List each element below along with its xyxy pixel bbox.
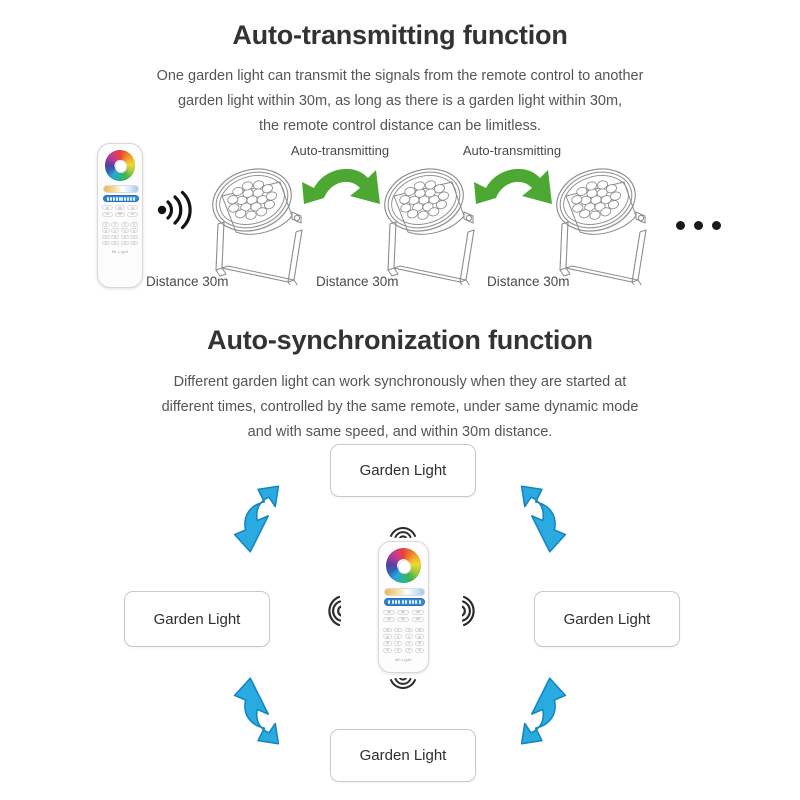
- remote-zone-button[interactable]: [130, 228, 138, 232]
- paragraph-line: One garden light can transmit the signal…: [0, 64, 800, 89]
- remote-zone-button[interactable]: [394, 648, 403, 653]
- remote-zone-button[interactable]: [383, 641, 392, 646]
- remote-zone-button[interactable]: [415, 648, 424, 653]
- double-headed-curved-arrow-icon-bottom-right: [492, 672, 570, 755]
- color-temperature-slider[interactable]: [384, 588, 424, 596]
- signal-wave-icon-down: [385, 678, 421, 709]
- remote-zone-button[interactable]: [405, 641, 414, 646]
- remote-zone-button[interactable]: [394, 641, 403, 646]
- curved-arrow-right-icon: [472, 160, 554, 213]
- remote-zone-button[interactable]: [121, 228, 129, 232]
- remote-zone-button[interactable]: [130, 222, 138, 226]
- paragraph-line: the remote control distance can be limit…: [0, 114, 800, 139]
- remote-function-button[interactable]: [127, 212, 138, 217]
- color-temperature-slider[interactable]: [103, 185, 139, 193]
- remote-zone-button[interactable]: [130, 241, 138, 245]
- remote-function-button[interactable]: [127, 205, 138, 210]
- garden-light-node-bottom[interactable]: Garden Light: [330, 729, 476, 782]
- distance-label: Distance 30m: [146, 274, 229, 289]
- remote-function-button[interactable]: [383, 610, 395, 615]
- remote-zone-button[interactable]: [102, 228, 110, 232]
- signal-wave-icon-up: [385, 512, 421, 543]
- auto-transmitting-label: Auto-transmitting: [280, 143, 400, 158]
- remote-zone-button[interactable]: [102, 241, 110, 245]
- brightness-slider[interactable]: [384, 598, 424, 606]
- product-feature-page: Auto-transmitting function One garden li…: [0, 0, 800, 800]
- remote-zone-button[interactable]: [130, 235, 138, 239]
- remote-zone-button[interactable]: [383, 634, 392, 639]
- color-wheel[interactable]: [105, 150, 136, 181]
- remote-zone-button[interactable]: [383, 628, 392, 633]
- remote-function-button[interactable]: [102, 212, 113, 217]
- remote-zone-button[interactable]: [102, 235, 110, 239]
- paragraph-line: Different garden light can work synchron…: [0, 370, 800, 395]
- remote-function-button[interactable]: [397, 610, 409, 615]
- remote-function-button[interactable]: [102, 205, 113, 210]
- remote-zone-button[interactable]: [111, 222, 119, 226]
- distance-label: Distance 30m: [487, 274, 570, 289]
- garden-light-node-left[interactable]: Garden Light: [124, 591, 270, 647]
- remote-function-button[interactable]: [412, 617, 424, 622]
- signal-wave-icon-right: [462, 592, 490, 635]
- paragraph-line: different times, controlled by the same …: [0, 395, 800, 420]
- double-headed-curved-arrow-icon-top-left: [230, 480, 308, 563]
- remote-zone-button[interactable]: [121, 222, 129, 226]
- paragraph-line: and with same speed, and within 30m dist…: [0, 420, 800, 445]
- double-headed-curved-arrow-icon-bottom-left: [230, 672, 308, 755]
- garden-light-fixture-icon: [540, 160, 660, 285]
- curved-arrow-right-icon: [300, 160, 382, 213]
- remote-zone-button[interactable]: [383, 648, 392, 653]
- remote-zone-button[interactable]: [415, 634, 424, 639]
- remote-control-center[interactable]: Mi-Light: [378, 541, 429, 673]
- remote-function-button[interactable]: [115, 212, 126, 217]
- section-paragraph-auto-synchronization: Different garden light can work synchron…: [0, 370, 800, 445]
- remote-zone-button[interactable]: [111, 241, 119, 245]
- section-paragraph-auto-transmitting: One garden light can transmit the signal…: [0, 64, 800, 139]
- remote-control[interactable]: Mi-Light: [97, 143, 143, 288]
- remote-zone-button[interactable]: [405, 634, 414, 639]
- garden-light-node-top[interactable]: Garden Light: [330, 444, 476, 497]
- remote-zone-button[interactable]: [394, 634, 403, 639]
- color-wheel[interactable]: [386, 548, 421, 583]
- remote-function-button[interactable]: [397, 617, 409, 622]
- remote-zone-button[interactable]: [415, 628, 424, 633]
- signal-wave-icon-left: [313, 592, 341, 635]
- auto-transmitting-label: Auto-transmitting: [452, 143, 572, 158]
- remote-zone-button[interactable]: [121, 241, 129, 245]
- remote-zone-button[interactable]: [415, 641, 424, 646]
- remote-zone-button[interactable]: [394, 628, 403, 633]
- remote-zone-button[interactable]: [111, 235, 119, 239]
- remote-zone-button[interactable]: [102, 222, 110, 226]
- ellipsis-dots: [676, 221, 721, 230]
- brightness-slider[interactable]: [103, 195, 139, 203]
- double-headed-curved-arrow-icon-top-right: [492, 480, 570, 563]
- garden-light-node-right[interactable]: Garden Light: [534, 591, 680, 647]
- remote-zone-button[interactable]: [405, 628, 414, 633]
- remote-function-button[interactable]: [383, 617, 395, 622]
- signal-wave-icon: [156, 190, 196, 235]
- garden-light-fixture-icon: [368, 160, 488, 285]
- garden-light-fixture-icon: [196, 160, 316, 285]
- remote-zone-button[interactable]: [121, 235, 129, 239]
- remote-zone-button[interactable]: [405, 648, 414, 653]
- section-title-auto-transmitting: Auto-transmitting function: [0, 20, 800, 51]
- section-title-auto-synchronization: Auto-synchronization function: [0, 325, 800, 356]
- remote-zone-button[interactable]: [111, 228, 119, 232]
- remote-function-button[interactable]: [412, 610, 424, 615]
- distance-label: Distance 30m: [316, 274, 399, 289]
- remote-function-button[interactable]: [115, 205, 126, 210]
- paragraph-line: garden light within 30m, as long as ther…: [0, 89, 800, 114]
- remote-brand-logo: Mi-Light: [98, 249, 142, 254]
- remote-brand-logo: Mi-Light: [379, 657, 428, 662]
